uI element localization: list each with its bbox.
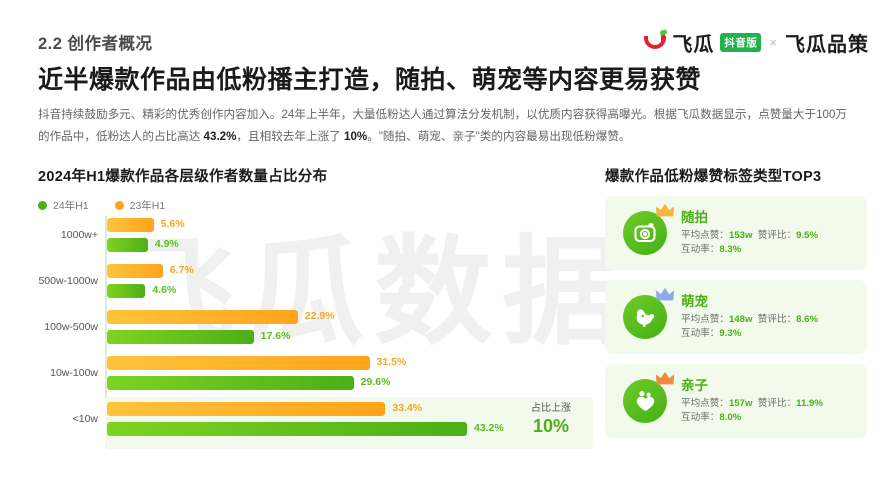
interaction-label: 互动率： xyxy=(681,244,719,255)
chart-value-label: 22.9% xyxy=(305,310,335,322)
parent-child-icon xyxy=(623,379,667,423)
tag-card[interactable]: 随拍平均点赞：153w 赞评比：9.5%互动率：8.3% xyxy=(605,196,867,270)
like-comment-label: 赞评比： xyxy=(758,314,796,325)
avg-likes-value: 157w xyxy=(729,398,752,409)
uplift-value: 10% xyxy=(515,416,587,436)
chart-value-label: 6.7% xyxy=(170,264,194,276)
chart-bar-23h1 xyxy=(107,310,298,324)
brand-separator: × xyxy=(767,35,779,50)
chart-row: 1000w+5.6%4.9% xyxy=(38,216,593,262)
uplift-label: 占比上涨 xyxy=(515,402,587,416)
legend-label-23h1: 23年H1 xyxy=(130,198,166,213)
chart-bar-24h1 xyxy=(107,376,354,390)
tag-card-stats-row-1: 平均点赞：153w 赞评比：9.5% xyxy=(681,229,857,243)
intro-highlight-2: 10% xyxy=(344,130,367,143)
feigua-logo-icon xyxy=(644,32,666,54)
crown-icon xyxy=(655,371,675,386)
interaction-value: 8.3% xyxy=(719,244,741,255)
like-comment-value: 11.9% xyxy=(796,398,823,409)
chart-value-label: 29.6% xyxy=(361,376,391,388)
avg-likes-label: 平均点赞： xyxy=(681,398,729,409)
legend-dot-orange xyxy=(115,201,124,210)
interaction-value: 8.0% xyxy=(719,412,741,423)
chart-row: <10w33.4%43.2%占比上涨10% xyxy=(38,400,593,446)
chart-value-label: 4.9% xyxy=(155,238,179,250)
legend-label-24h1: 24年H1 xyxy=(53,198,89,213)
tag-card-name: 随拍 xyxy=(681,209,857,227)
avg-likes-value: 153w xyxy=(729,230,752,241)
crown-icon xyxy=(655,287,675,302)
chart-category-label: 1000w+ xyxy=(38,229,98,241)
chart-category-label: 100w-500w xyxy=(38,321,98,333)
avg-likes-label: 平均点赞： xyxy=(681,314,729,325)
tag-card-stats-row-2: 互动率：8.3% xyxy=(681,243,857,257)
legend-item-24h1: 24年H1 xyxy=(38,198,89,213)
intro-text-3: 。"随拍、萌宠、亲子"类的内容最易出现低粉爆赞。 xyxy=(367,130,630,143)
avg-likes-label: 平均点赞： xyxy=(681,230,729,241)
camera-icon xyxy=(623,211,667,255)
chart-bar-23h1 xyxy=(107,356,370,370)
crown-icon xyxy=(655,203,675,218)
section-kicker: 2.2 创作者概况 xyxy=(38,30,153,54)
chart-legend: 24年H1 23年H1 xyxy=(38,198,165,213)
chart-bar-23h1 xyxy=(107,218,154,232)
chart-bar-24h1 xyxy=(107,330,254,344)
tag-card-name: 亲子 xyxy=(681,377,857,395)
like-comment-value: 8.6% xyxy=(796,314,818,325)
like-comment-value: 9.5% xyxy=(796,230,818,241)
interaction-label: 互动率： xyxy=(681,412,719,423)
tag-card-body: 萌宠平均点赞：148w 赞评比：8.6%互动率：9.3% xyxy=(681,293,867,341)
interaction-label: 互动率： xyxy=(681,328,719,339)
tag-card-stats-row-2: 互动率：8.0% xyxy=(681,411,857,425)
tag-card-body: 亲子平均点赞：157w 赞评比：11.9%互动率：8.0% xyxy=(681,377,867,425)
brand-bar: 飞瓜 抖音版 × 飞瓜品策 xyxy=(644,28,869,57)
tag-card[interactable]: 亲子平均点赞：157w 赞评比：11.9%互动率：8.0% xyxy=(605,364,867,438)
intro-text-2: ，且相较去年上涨了 xyxy=(236,130,344,143)
tag-card-stats-row-1: 平均点赞：148w 赞评比：8.6% xyxy=(681,313,857,327)
like-comment-label: 赞评比： xyxy=(758,230,796,241)
chart-bar-23h1 xyxy=(107,264,163,278)
chart-bar-24h1 xyxy=(107,238,148,252)
chart-value-label: 43.2% xyxy=(474,422,504,434)
chart-row: 500w-1000w6.7%4.6% xyxy=(38,262,593,308)
chart-category-label: 10w-100w xyxy=(38,367,98,379)
brand-partner-name: 飞瓜品策 xyxy=(785,28,869,57)
chart-value-label: 4.6% xyxy=(152,284,176,296)
chart-value-label: 33.4% xyxy=(392,402,422,414)
top-tags-list: 随拍平均点赞：153w 赞评比：9.5%互动率：8.3%萌宠平均点赞：148w … xyxy=(605,196,867,448)
chart-bar-23h1 xyxy=(107,402,385,416)
bar-chart: 1000w+5.6%4.9%500w-1000w6.7%4.6%100w-500… xyxy=(38,216,593,448)
uplift-annotation: 占比上涨10% xyxy=(515,402,587,436)
cards-title: 爆款作品低粉爆赞标签类型TOP3 xyxy=(605,165,821,186)
avg-likes-value: 148w xyxy=(729,314,752,325)
chart-category-label: <10w xyxy=(38,413,98,425)
tag-card-body: 随拍平均点赞：153w 赞评比：9.5%互动率：8.3% xyxy=(681,209,867,257)
chart-bar-24h1 xyxy=(107,284,145,298)
tag-card-stats-row-2: 互动率：9.3% xyxy=(681,327,857,341)
legend-dot-green xyxy=(38,201,47,210)
chart-value-label: 31.5% xyxy=(377,356,407,368)
chart-row: 10w-100w31.5%29.6% xyxy=(38,354,593,400)
tag-card-stats-row-1: 平均点赞：157w 赞评比：11.9% xyxy=(681,397,857,411)
intro-paragraph: 抖音持续鼓励多元、精彩的优秀创作内容加入。24年上半年，大量低粉达人通过算法分发… xyxy=(38,104,856,148)
brand-platform-tag: 抖音版 xyxy=(720,33,761,52)
legend-item-23h1: 23年H1 xyxy=(115,198,166,213)
chart-bar-24h1 xyxy=(107,422,467,436)
dog-icon xyxy=(623,295,667,339)
chart-value-label: 17.6% xyxy=(261,330,291,342)
like-comment-label: 赞评比： xyxy=(758,398,796,409)
chart-category-label: 500w-1000w xyxy=(38,275,98,287)
interaction-value: 9.3% xyxy=(719,328,741,339)
intro-highlight-1: 43.2% xyxy=(204,130,237,143)
brand-name: 飞瓜 xyxy=(672,28,714,57)
chart-value-label: 5.6% xyxy=(161,218,185,230)
chart-title: 2024年H1爆款作品各层级作者数量占比分布 xyxy=(38,165,327,186)
tag-card[interactable]: 萌宠平均点赞：148w 赞评比：8.6%互动率：9.3% xyxy=(605,280,867,354)
tag-card-name: 萌宠 xyxy=(681,293,857,311)
chart-row: 100w-500w22.9%17.6% xyxy=(38,308,593,354)
page-title: 近半爆款作品由低粉播主打造，随拍、萌宠等内容更易获赞 xyxy=(38,60,701,96)
